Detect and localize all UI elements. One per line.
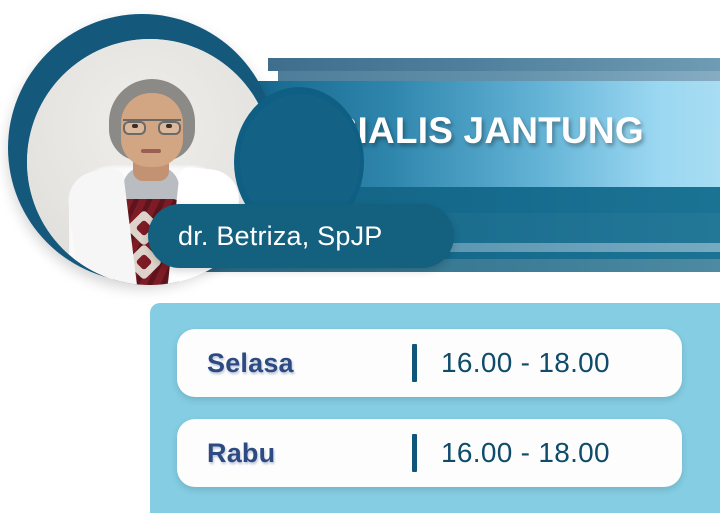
schedule-row: Selasa 16.00 - 18.00 (177, 329, 682, 397)
schedule-panel: Selasa 16.00 - 18.00 Rabu 16.00 - 18.00 (150, 303, 720, 513)
schedule-day-label: Rabu (177, 438, 412, 469)
schedule-time-label: 16.00 - 18.00 (417, 347, 610, 379)
decorative-band-top-2 (278, 71, 720, 81)
schedule-day-label: Selasa (177, 348, 412, 379)
photo-mouth (141, 149, 161, 153)
photo-eye-right (166, 124, 172, 128)
decorative-band-bottom-2 (450, 243, 720, 252)
photo-eye-left (132, 124, 138, 128)
doctor-name-badge: dr. Betriza, SpJP (148, 204, 454, 268)
schedule-time-label: 16.00 - 18.00 (417, 437, 610, 469)
doctor-name-label: dr. Betriza, SpJP (178, 221, 383, 252)
doctor-schedule-poster: SPESIALIS JANTUNG dr. Betriza, (0, 0, 720, 513)
schedule-row: Rabu 16.00 - 18.00 (177, 419, 682, 487)
decorative-band-top-1 (268, 58, 720, 71)
